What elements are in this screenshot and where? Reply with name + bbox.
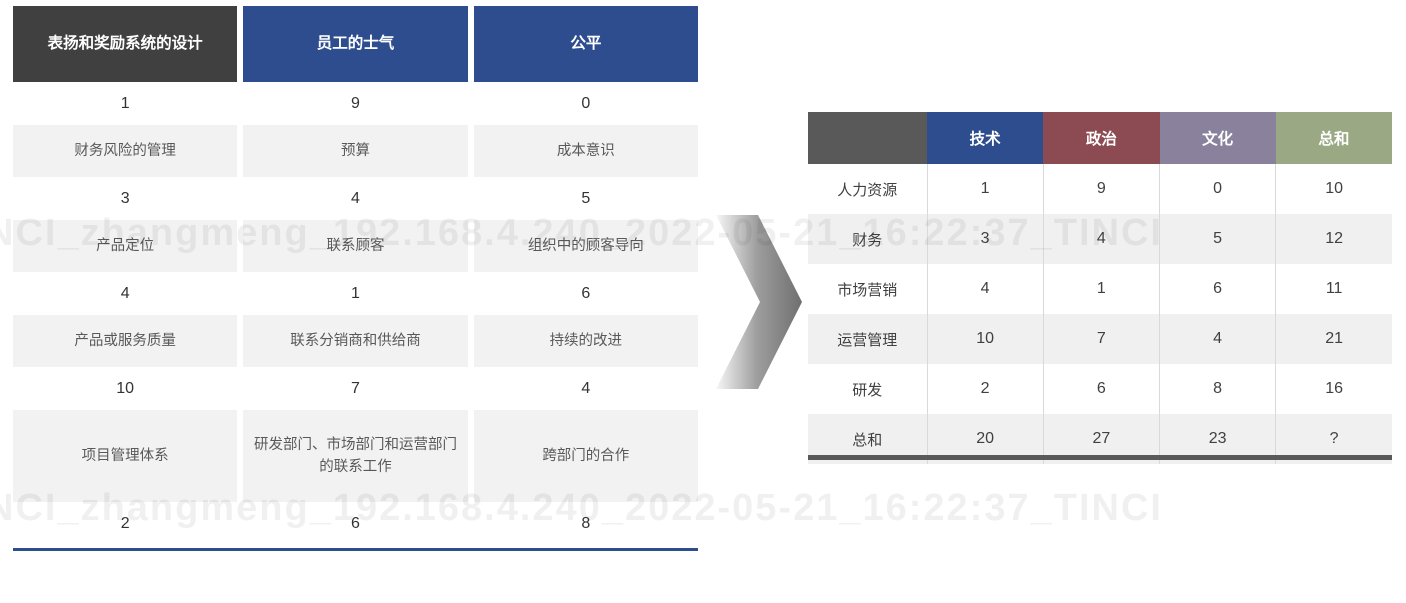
right-cell-value: 3 [927, 214, 1043, 264]
left-table-bottom-rule [13, 548, 698, 551]
left-label-cell: 研发部门、市场部门和运营部门的联系工作 [243, 410, 467, 502]
left-number-row: 1 9 0 [13, 82, 698, 125]
table-row: 研发 2 6 8 16 [808, 364, 1392, 414]
left-number-row: 3 4 5 [13, 177, 698, 220]
left-number-cell: 7 [243, 367, 467, 410]
left-header-cell-1: 表扬和奖励系统的设计 [13, 6, 237, 82]
right-cell-value: 21 [1276, 314, 1392, 364]
left-number-cell: 4 [243, 177, 467, 220]
left-number-cell: 8 [474, 502, 698, 545]
left-number-cell: 10 [13, 367, 237, 410]
right-cell-value: 1 [1043, 264, 1159, 314]
table-row: 人力资源 1 9 0 10 [808, 164, 1392, 214]
left-number-row-final: 2 6 8 [13, 502, 698, 545]
left-label-cell: 预算 [243, 125, 467, 177]
left-label-row: 项目管理体系 研发部门、市场部门和运营部门的联系工作 跨部门的合作 [13, 410, 698, 502]
left-header-cell-3: 公平 [474, 6, 698, 82]
left-number-row: 4 1 6 [13, 272, 698, 315]
right-column-header-politics: 政治 [1043, 112, 1159, 164]
left-label-row: 产品或服务质量 联系分销商和供给商 持续的改进 [13, 315, 698, 367]
right-summary-table: 技术 政治 文化 总和 人力资源 1 9 0 10 财务 3 4 5 12 市场… [808, 112, 1392, 464]
left-label-cell: 联系顾客 [243, 220, 467, 272]
left-number-cell: 9 [243, 82, 467, 125]
right-row-header: 市场营销 [808, 264, 927, 314]
right-cell-value: 0 [1160, 164, 1276, 214]
right-table-corner-cell [808, 112, 927, 164]
right-table-body: 人力资源 1 9 0 10 财务 3 4 5 12 市场营销 4 1 6 11 … [808, 164, 1392, 464]
left-number-row: 10 7 4 [13, 367, 698, 410]
left-number-cell: 4 [13, 272, 237, 315]
left-number-cell: 1 [13, 82, 237, 125]
right-cell-value: 4 [1160, 314, 1276, 364]
table-row: 财务 3 4 5 12 [808, 214, 1392, 264]
left-label-row: 产品定位 联系顾客 组织中的顾客导向 [13, 220, 698, 272]
left-number-cell: 5 [474, 177, 698, 220]
right-cell-value: 8 [1160, 364, 1276, 414]
right-cell-value: 7 [1043, 314, 1159, 364]
right-row-header: 研发 [808, 364, 927, 414]
left-number-cell: 6 [474, 272, 698, 315]
left-table-header-row: 表扬和奖励系统的设计 员工的士气 公平 [13, 6, 698, 82]
right-cell-value: 10 [1276, 164, 1392, 214]
right-column-header-tech: 技术 [927, 112, 1043, 164]
left-label-cell: 项目管理体系 [13, 410, 237, 502]
right-row-header: 财务 [808, 214, 927, 264]
table-row: 运营管理 10 7 4 21 [808, 314, 1392, 364]
right-cell-value: 4 [1043, 214, 1159, 264]
right-cell-value: 1 [927, 164, 1043, 214]
left-label-cell: 产品定位 [13, 220, 237, 272]
right-column-header-culture: 文化 [1160, 112, 1276, 164]
left-label-cell: 财务风险的管理 [13, 125, 237, 177]
left-number-cell: 4 [474, 367, 698, 410]
table-row: 市场营销 4 1 6 11 [808, 264, 1392, 314]
right-row-header: 运营管理 [808, 314, 927, 364]
right-cell-value: 9 [1043, 164, 1159, 214]
right-column-header-total: 总和 [1276, 112, 1392, 164]
left-label-cell: 跨部门的合作 [474, 410, 698, 502]
right-cell-value: 6 [1043, 364, 1159, 414]
right-cell-value: 2 [927, 364, 1043, 414]
left-header-cell-2: 员工的士气 [243, 6, 467, 82]
left-label-cell: 联系分销商和供给商 [243, 315, 467, 367]
right-cell-value: 6 [1160, 264, 1276, 314]
left-number-cell: 1 [243, 272, 467, 315]
right-cell-value: 5 [1160, 214, 1276, 264]
left-label-cell: 成本意识 [474, 125, 698, 177]
right-table-bottom-rule [808, 455, 1392, 460]
right-cell-value: 16 [1276, 364, 1392, 414]
left-label-cell: 组织中的顾客导向 [474, 220, 698, 272]
left-label-row: 财务风险的管理 预算 成本意识 [13, 125, 698, 177]
right-cell-value: 11 [1276, 264, 1392, 314]
right-cell-value: 10 [927, 314, 1043, 364]
chevron-arrow-right-icon [714, 213, 804, 391]
right-row-header: 人力资源 [808, 164, 927, 214]
left-label-cell: 产品或服务质量 [13, 315, 237, 367]
left-number-cell: 6 [243, 502, 467, 545]
left-number-cell: 0 [474, 82, 698, 125]
left-number-cell: 2 [13, 502, 237, 545]
left-number-cell: 3 [13, 177, 237, 220]
right-cell-value: 12 [1276, 214, 1392, 264]
left-label-cell: 持续的改进 [474, 315, 698, 367]
left-criteria-table: 表扬和奖励系统的设计 员工的士气 公平 1 9 0 财务风险的管理 预算 成本意… [13, 6, 698, 551]
right-table-header: 技术 政治 文化 总和 [808, 112, 1392, 164]
right-table-header-row: 技术 政治 文化 总和 [808, 112, 1392, 164]
right-cell-value: 4 [927, 264, 1043, 314]
